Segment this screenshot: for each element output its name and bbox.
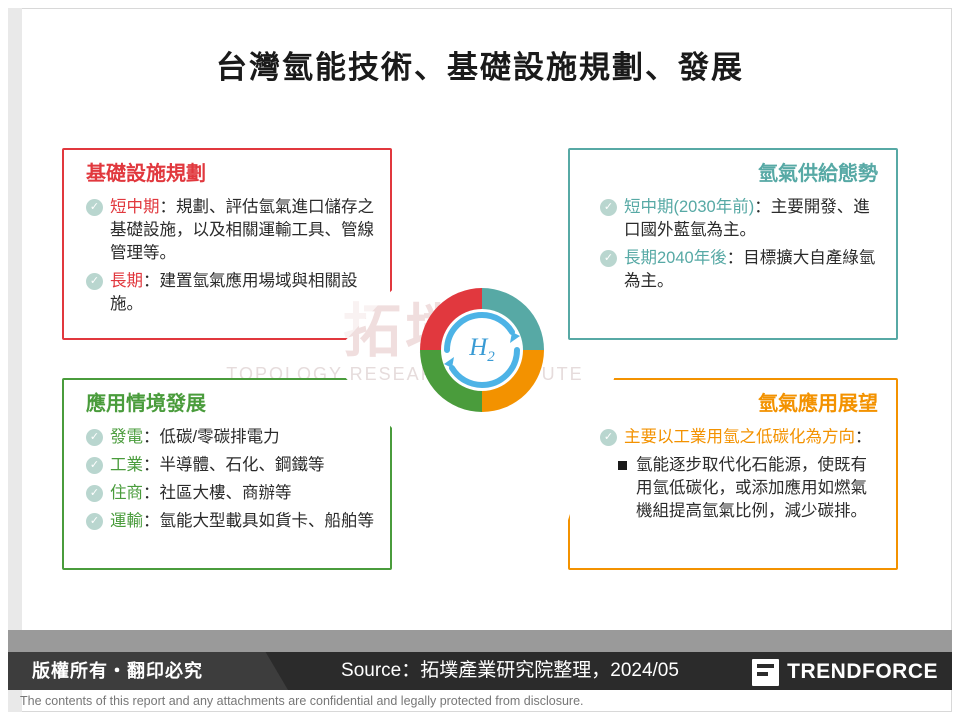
disclaimer-text: The contents of this report and any atta…	[8, 694, 952, 708]
quadrant-outlook-title: 氫氣應用展望	[600, 392, 878, 416]
list-item-sep: ：	[143, 456, 160, 474]
list-item-sep: ：	[855, 428, 872, 446]
list-item: ✓ 短中期：規劃、評估氫氣進口儲存之基礎設施，以及相關運輸工具、管線 管理等。	[86, 196, 374, 265]
list-item: ✓ 運輸：氫能大型載具如貨卡、船舶等	[86, 510, 374, 533]
list-item: ✓ 主要以工業用氫之低碳化為方向：	[600, 426, 878, 449]
quadrant-supply-title: 氫氣供給態勢	[600, 162, 878, 186]
list-item-text: 氫能大型載具如貨卡、船舶等	[160, 512, 375, 530]
list-item-lead: 住商	[110, 484, 143, 502]
list-item-sep: ：	[143, 272, 160, 290]
quadrant-infrastructure-title: 基礎設施規劃	[86, 162, 374, 186]
list-item: ✓ 短中期(2030年前)：主要開發、進口國外藍氫為主。	[600, 196, 878, 242]
list-item-text: 半導體、石化、鋼鐵等	[160, 456, 325, 474]
list-item: ✓ 住商：社區大樓、商辦等	[86, 482, 374, 505]
sub-list-item-text: 氫能逐步取代化石能源，使既有用氫低碳化，或添加應用如燃氣機組提高氫氣比例，減少碳…	[636, 454, 878, 523]
quadrant-supply-list: ✓ 短中期(2030年前)：主要開發、進口國外藍氫為主。 ✓ 長期2040年後：…	[600, 196, 878, 293]
check-circle-icon: ✓	[86, 513, 103, 530]
check-circle-icon: ✓	[600, 429, 617, 446]
list-item-text: 社區大樓、商辦等	[160, 484, 292, 502]
list-item-lead: 工業	[110, 456, 143, 474]
list-item-lead: 長期2040年後	[624, 249, 727, 267]
list-item-lead: 發電	[110, 428, 143, 446]
quadrant-outlook-list: ✓ 主要以工業用氫之低碳化為方向： 氫能逐步取代化石能源，使既有用氫低碳化，或添…	[600, 426, 878, 523]
list-item: ✓ 發電：低碳/零碳排電力	[86, 426, 374, 449]
recycle-arrow-icon	[435, 303, 529, 397]
quadrant-infrastructure: 基礎設施規劃 ✓ 短中期：規劃、評估氫氣進口儲存之基礎設施，以及相關運輸工具、管…	[62, 148, 392, 340]
list-item-lead: 短中期	[110, 198, 160, 216]
center-wheel: H2	[420, 288, 544, 412]
check-circle-icon: ✓	[86, 457, 103, 474]
check-circle-icon: ✓	[86, 485, 103, 502]
quadrant-outlook: 氫氣應用展望 ✓ 主要以工業用氫之低碳化為方向： 氫能逐步取代化石能源，使既有用…	[568, 378, 898, 570]
trendforce-mark-icon	[752, 659, 779, 686]
list-item-sep: ：	[160, 198, 177, 216]
list-item-lead: 長期	[110, 272, 143, 290]
list-item-lead: 主要以工業用氫之低碳化為方向	[624, 428, 855, 446]
quadrant-supply: 氫氣供給態勢 ✓ 短中期(2030年前)：主要開發、進口國外藍氫為主。 ✓ 長期…	[568, 148, 898, 340]
list-item: ✓ 長期：建置氫氣應用場域與相關設施。	[86, 270, 374, 316]
check-circle-icon: ✓	[600, 250, 617, 267]
list-item-lead: 短中期(2030年前)	[624, 198, 754, 216]
list-item-lead: 運輸	[110, 512, 143, 530]
check-circle-icon: ✓	[86, 199, 103, 216]
slide-root: 台灣氫能技術、基礎設施規劃、發展 拓墣 TOPOLOGY RESEARCH IN…	[0, 0, 960, 720]
quadrant-infrastructure-list: ✓ 短中期：規劃、評估氫氣進口儲存之基礎設施，以及相關運輸工具、管線 管理等。 …	[86, 196, 374, 316]
quadrant-application-list: ✓ 發電：低碳/零碳排電力 ✓ 工業：半導體、石化、鋼鐵等 ✓ 住商：社區大樓、…	[86, 426, 374, 533]
check-circle-icon: ✓	[86, 429, 103, 446]
check-circle-icon: ✓	[600, 199, 617, 216]
brand-name: TRENDFORCE	[787, 660, 938, 684]
list-item-sep: ：	[143, 512, 160, 530]
copyright-badge: 版權所有‧翻印必究	[8, 652, 288, 690]
list-item-sep: ：	[754, 198, 771, 216]
list-item-sep: ：	[143, 428, 160, 446]
list-item: ✓ 工業：半導體、石化、鋼鐵等	[86, 454, 374, 477]
quadrant-application: 應用情境發展 ✓ 發電：低碳/零碳排電力 ✓ 工業：半導體、石化、鋼鐵等 ✓ 住…	[62, 378, 392, 570]
brand-logo: TRENDFORCE	[752, 658, 938, 686]
list-item: ✓ 長期2040年後：目標擴大自產綠氫為主。	[600, 247, 878, 293]
page-title: 台灣氫能技術、基礎設施規劃、發展	[40, 42, 920, 87]
source-text: Source：拓墣產業研究院整理，2024/05	[300, 652, 720, 690]
list-item-sep: ：	[143, 484, 160, 502]
check-circle-icon: ✓	[86, 273, 103, 290]
square-bullet-icon	[618, 461, 627, 470]
sub-list-item: 氫能逐步取代化石能源，使既有用氫低碳化，或添加應用如燃氣機組提高氫氣比例，減少碳…	[600, 454, 878, 523]
quadrant-application-title: 應用情境發展	[86, 392, 374, 416]
left-accent-bar	[8, 8, 22, 712]
list-item-sep: ：	[727, 249, 744, 267]
list-item-text: 低碳/零碳排電力	[160, 428, 280, 446]
